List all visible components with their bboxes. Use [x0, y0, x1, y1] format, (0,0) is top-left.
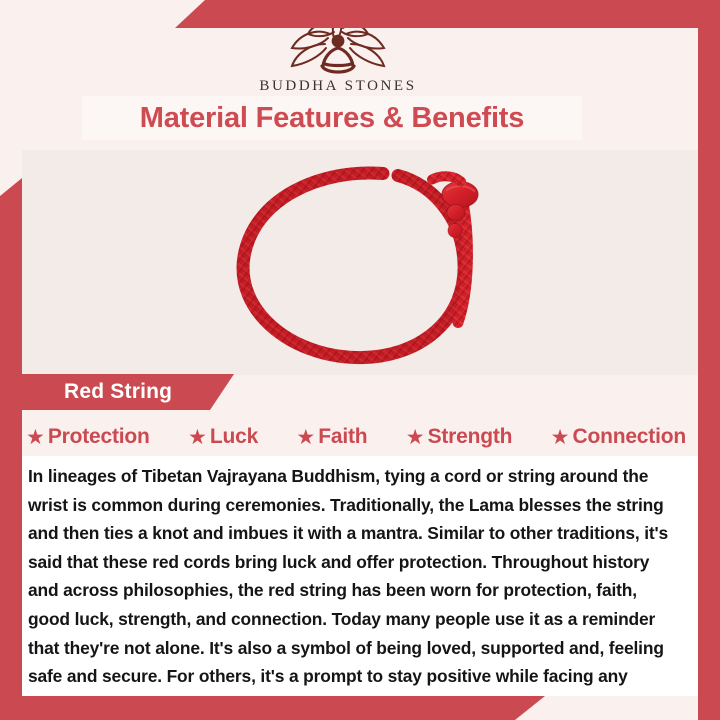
star-icon: ★ [296, 427, 315, 448]
benefit-label: Faith [318, 425, 367, 449]
benefit-item-strength: ★ Strength [406, 425, 513, 449]
frame-bar-left [0, 178, 22, 720]
benefit-label: Connection [572, 425, 686, 449]
red-braided-bracelet-cord-icon [220, 150, 500, 375]
product-name-label: Red String [64, 380, 172, 404]
product-name-ribbon: Red String [0, 374, 234, 410]
product-photo-stage [22, 150, 698, 375]
infographic-poster: BUDDHA STONES Material Features & Benefi… [0, 0, 720, 720]
description-panel: In lineages of Tibetan Vajrayana Buddhis… [22, 456, 698, 696]
star-icon: ★ [26, 427, 45, 448]
star-icon: ★ [188, 427, 207, 448]
benefit-label: Protection [48, 425, 150, 449]
description-body: In lineages of Tibetan Vajrayana Buddhis… [28, 462, 670, 719]
frame-bar-right [698, 0, 720, 720]
benefit-item-connection: ★ Connection [551, 425, 686, 449]
benefit-item-protection: ★ Protection [26, 425, 150, 449]
benefit-label: Luck [210, 425, 258, 449]
brand-name: BUDDHA STONES [0, 78, 676, 95]
benefit-label: Strength [428, 425, 513, 449]
star-icon: ★ [551, 427, 570, 448]
benefits-row: ★ Protection ★ Luck ★ Faith ★ Strength ★… [26, 420, 686, 454]
benefit-item-faith: ★ Faith [296, 425, 367, 449]
star-icon: ★ [406, 427, 425, 448]
page-title: Material Features & Benefits [140, 102, 524, 135]
page-title-band: Material Features & Benefits [82, 96, 582, 140]
benefit-item-luck: ★ Luck [188, 425, 258, 449]
